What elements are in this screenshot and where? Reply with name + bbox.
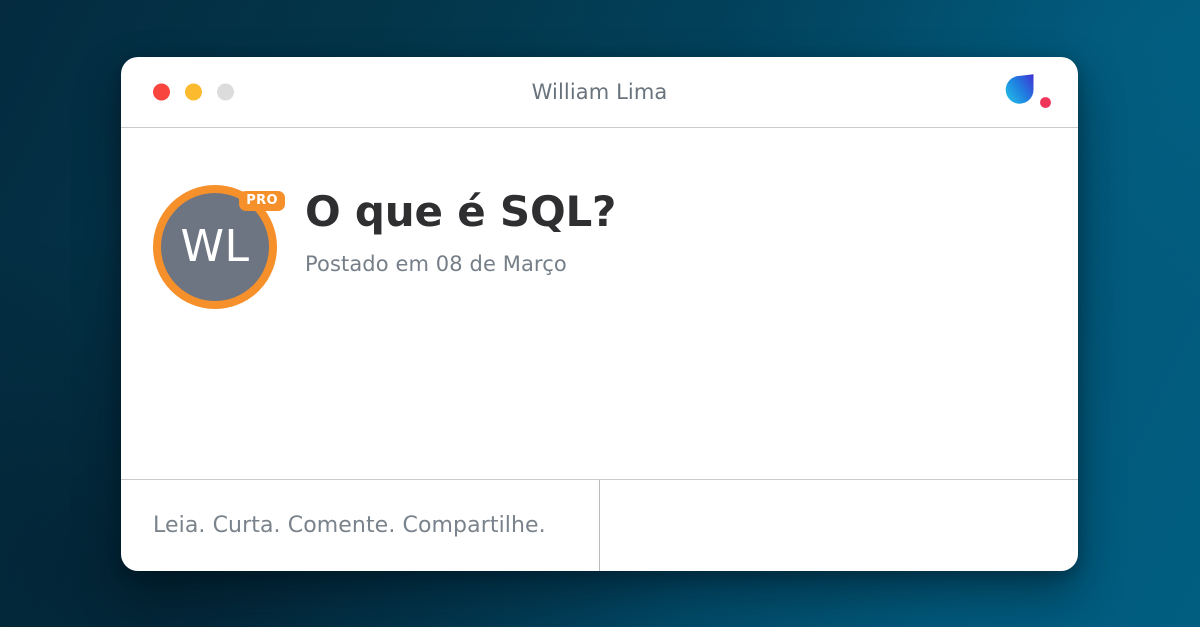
post-content-area: WL PRO O que é SQL? Postado em 08 de Mar… <box>121 128 1078 480</box>
minimize-window-button[interactable] <box>185 84 202 101</box>
avatar-initials: WL <box>180 225 249 269</box>
post-header: WL PRO O que é SQL? Postado em 08 de Mar… <box>121 183 1078 309</box>
card-footer: Leia. Curta. Comente. Compartilhe. <box>121 480 1078 571</box>
post-date: Postado em 08 de Março <box>305 252 616 276</box>
maximize-window-button[interactable] <box>217 84 234 101</box>
window-titlebar: William Lima <box>121 57 1078 128</box>
browser-window-card: William Lima WL PRO O que é <box>121 57 1078 571</box>
droplet-logo-icon <box>1002 72 1054 112</box>
page-title: O que é SQL? <box>305 189 616 234</box>
footer-tagline: Leia. Curta. Comente. Compartilhe. <box>153 513 546 538</box>
post-text-block: O que é SQL? Postado em 08 de Março <box>277 183 616 276</box>
footer-left-cell: Leia. Curta. Comente. Compartilhe. <box>121 480 600 571</box>
traffic-light-controls <box>153 84 234 101</box>
close-window-button[interactable] <box>153 84 170 101</box>
footer-right-cell <box>600 480 1078 571</box>
avatar[interactable]: WL PRO <box>153 185 277 309</box>
window-title: William Lima <box>121 80 1078 104</box>
pro-badge: PRO <box>239 191 285 211</box>
